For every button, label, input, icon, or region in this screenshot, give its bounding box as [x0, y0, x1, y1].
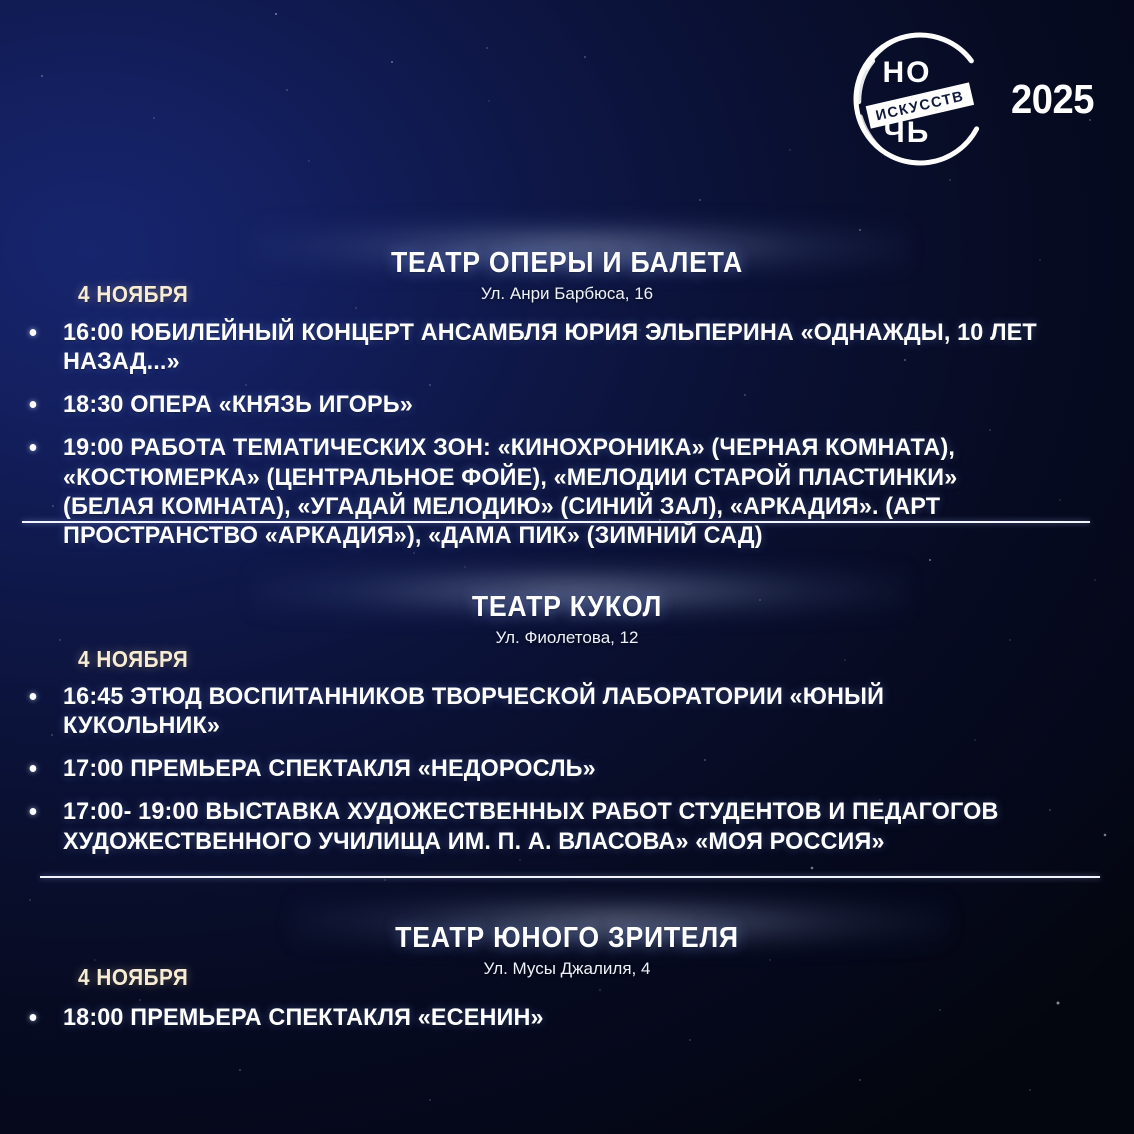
section-date-puppet: 4 НОЯБРЯ [78, 646, 188, 673]
list-item[interactable]: 19:00 РАБОТА ТЕМАТИЧЕСКИХ ЗОН: «КИНОХРОН… [0, 433, 1083, 550]
section-divider-1 [22, 521, 1090, 523]
event-list-puppet: 16:45 ЭТЮД ВОСПИТАННИКОВ ТВОРЧЕСКОЙ ЛАБО… [0, 682, 1134, 870]
section-divider-2 [40, 876, 1100, 878]
list-item[interactable]: 18:00 ПРЕМЬЕРА СПЕКТАКЛЯ «ЕСЕНИН» [0, 1003, 1083, 1032]
section-address-puppet: Ул. Фиолетова, 12 [0, 628, 1134, 648]
night-of-arts-logo: НО ЧЬ ИСКУССТВ [845, 24, 995, 174]
list-item[interactable]: 17:00 ПРЕМЬЕРА СПЕКТАКЛЯ «НЕДОРОСЛЬ» [0, 754, 1083, 783]
list-item[interactable]: 18:30 ОПЕРА «КНЯЗЬ ИГОРЬ» [0, 390, 1083, 419]
list-item[interactable]: 16:00 ЮБИЛЕЙНЫЙ КОНЦЕРТ АНСАМБЛЯ ЮРИЯ ЭЛ… [0, 318, 1083, 376]
section-puppet: ТЕАТР КУКОЛ Ул. Фиолетова, 12 [0, 592, 1134, 648]
event-list-opera: 16:00 ЮБИЛЕЙНЫЙ КОНЦЕРТ АНСАМБЛЯ ЮРИЯ ЭЛ… [0, 318, 1134, 564]
event-list-tyuz: 18:00 ПРЕМЬЕРА СПЕКТАКЛЯ «ЕСЕНИН» [0, 1003, 1134, 1046]
year-label: 2025 [1011, 79, 1094, 120]
list-item[interactable]: 16:45 ЭТЮД ВОСПИТАННИКОВ ТВОРЧЕСКОЙ ЛАБО… [0, 682, 1083, 740]
svg-text:НО: НО [883, 56, 932, 89]
section-date-opera: 4 НОЯБРЯ [78, 281, 188, 308]
section-title-puppet: ТЕАТР КУКОЛ [45, 592, 1088, 623]
list-item[interactable]: 17:00- 19:00 ВЫСТАВКА ХУДОЖЕСТВЕННЫХ РАБ… [0, 797, 1083, 855]
section-title-opera: ТЕАТР ОПЕРЫ И БАЛЕТА [45, 248, 1088, 279]
section-title-tyuz: ТЕАТР ЮНОГО ЗРИТЕЛЯ [45, 923, 1088, 954]
poster-canvas: НО ЧЬ ИСКУССТВ 2025 ТЕАТР ОПЕРЫ И БАЛЕТА… [0, 0, 1134, 1134]
section-date-tyuz: 4 НОЯБРЯ [78, 964, 188, 991]
